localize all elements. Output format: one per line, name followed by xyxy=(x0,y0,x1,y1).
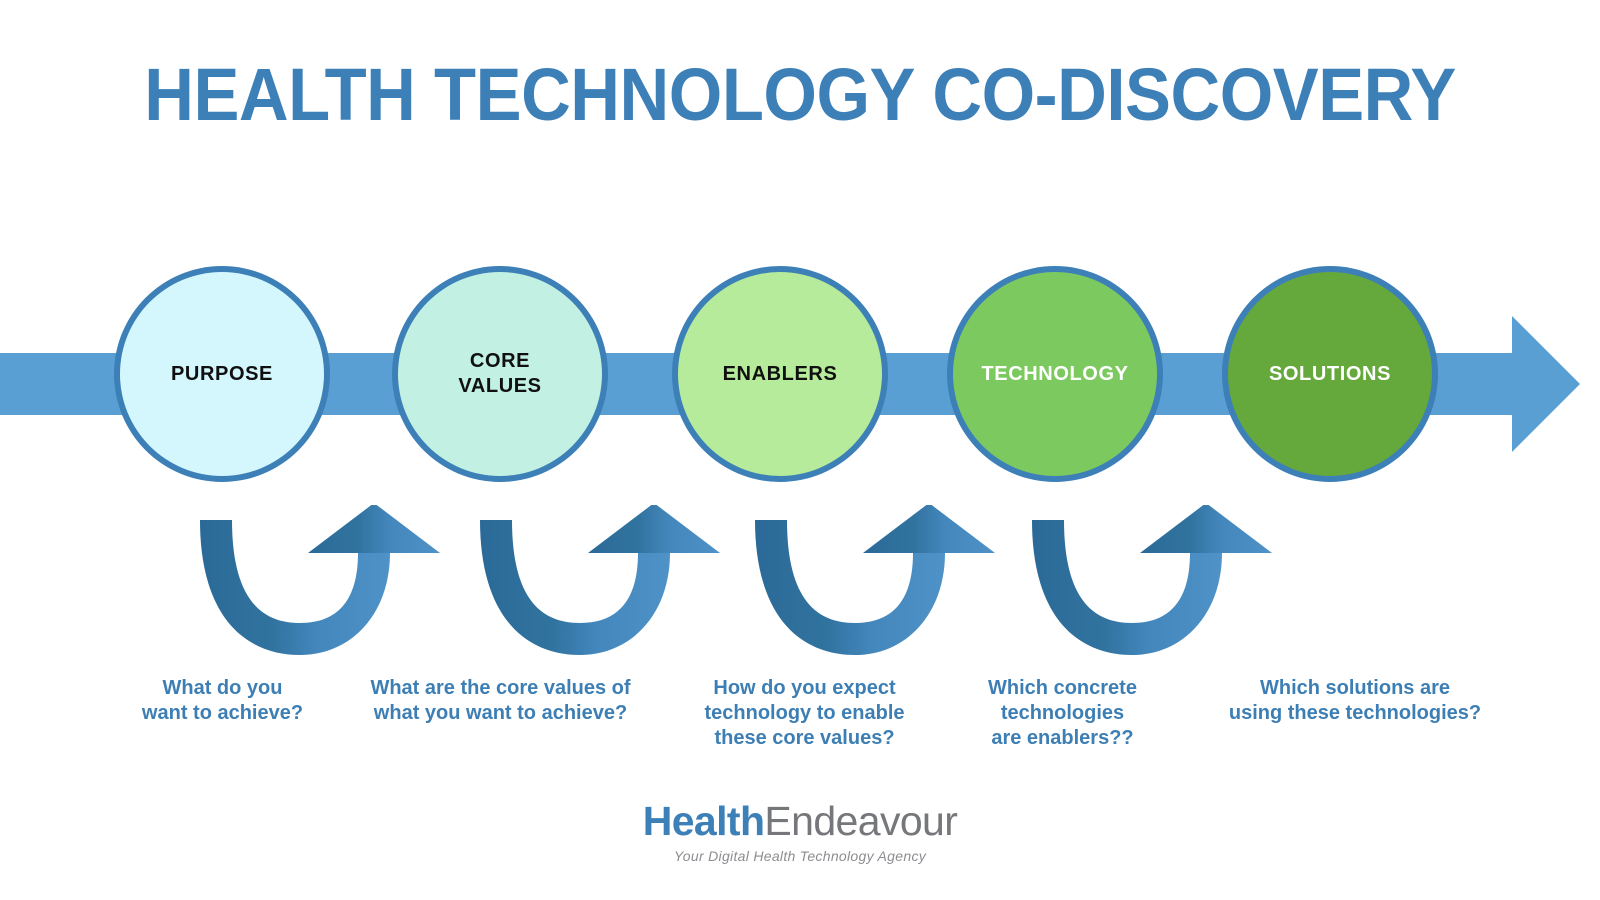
stage-circle-fill xyxy=(678,272,882,476)
questions-group: What do you want to achieve? What are th… xyxy=(0,668,1600,778)
stage-circle-technology[interactable] xyxy=(947,266,1163,482)
question-line1: What do you xyxy=(110,676,335,701)
question-line2: technology to enable xyxy=(682,701,927,726)
process-flow-diagram xyxy=(0,245,1600,515)
curved-arrow-head xyxy=(863,505,995,553)
question-line2: what you want to achieve? xyxy=(343,701,658,726)
logo-name-bold: Health xyxy=(643,798,765,844)
stage-circle-solutions[interactable] xyxy=(1222,266,1438,482)
curved-arrow-2 xyxy=(480,505,720,655)
question-line3: are enablers?? xyxy=(955,726,1170,751)
stage-circle-fill xyxy=(120,272,324,476)
stage-circle-core-values[interactable] xyxy=(392,266,608,482)
flow-arrow-head xyxy=(1512,316,1580,452)
question-purpose: What do you want to achieve? xyxy=(110,676,335,726)
question-line3: these core values? xyxy=(682,726,927,751)
curved-arrow-head xyxy=(588,505,720,553)
curved-arrow-4 xyxy=(1032,505,1272,655)
question-line2: technologies xyxy=(955,701,1170,726)
question-line1: Which solutions are xyxy=(1200,676,1510,701)
page-title: HEALTH TECHNOLOGY CO-DISCOVERY xyxy=(56,52,1544,138)
question-technology: Which concrete technologies are enablers… xyxy=(955,676,1170,751)
logo-wordmark: HealthEndeavour xyxy=(0,798,1600,844)
question-solutions: Which solutions are using these technolo… xyxy=(1200,676,1510,726)
question-line1: How do you expect xyxy=(682,676,927,701)
curved-arrow-1 xyxy=(200,505,440,655)
curved-arrow-head xyxy=(1140,505,1272,553)
question-enablers: How do you expect technology to enable t… xyxy=(682,676,927,751)
question-line2: want to achieve? xyxy=(110,701,335,726)
stage-circle-fill xyxy=(1228,272,1432,476)
question-core-values: What are the core values of what you wan… xyxy=(343,676,658,726)
stage-circle-enablers[interactable] xyxy=(672,266,888,482)
stage-circle-fill xyxy=(953,272,1157,476)
logo-tagline: Your Digital Health Technology Agency xyxy=(0,847,1600,865)
logo-name-light: Endeavour xyxy=(764,798,957,844)
curved-arrow-3 xyxy=(755,505,995,655)
stage-circle-fill xyxy=(398,272,602,476)
question-line1: What are the core values of xyxy=(343,676,658,701)
question-line2: using these technologies? xyxy=(1200,701,1510,726)
curved-arrow-head xyxy=(308,505,440,553)
stage-circle-purpose[interactable] xyxy=(114,266,330,482)
question-arrows-group xyxy=(0,505,1600,655)
question-line1: Which concrete xyxy=(955,676,1170,701)
brand-logo: HealthEndeavour Your Digital Health Tech… xyxy=(0,798,1600,865)
